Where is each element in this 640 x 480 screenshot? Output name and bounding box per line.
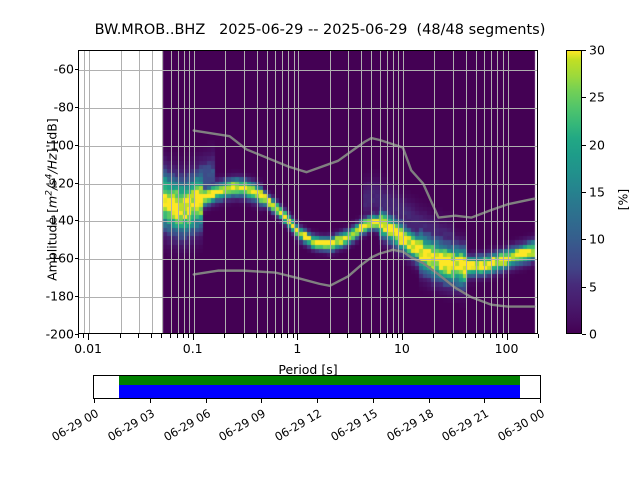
timeline-tick-label: 06-29 09	[213, 406, 268, 446]
timeline-tick	[429, 399, 430, 403]
x-axis-tick	[177, 334, 178, 338]
grid-line-horizontal	[79, 146, 538, 147]
x-axis-tick	[329, 334, 330, 338]
grid-line-vertical	[152, 51, 153, 334]
x-axis-tick	[287, 334, 288, 338]
timeline-tick	[150, 399, 151, 403]
x-axis-tick	[360, 334, 361, 338]
x-axis-tick	[538, 334, 539, 338]
timeline-tick-label: 06-29 06	[157, 406, 212, 446]
colorbar-tick-label: 5	[589, 279, 597, 294]
x-axis-tick-label: 0.1	[183, 341, 203, 356]
timeline-tick-label: 06-29 15	[324, 406, 379, 446]
x-axis-tick	[256, 334, 257, 338]
grid-line-vertical	[121, 51, 122, 334]
y-axis-tick	[75, 107, 79, 108]
x-axis-tick	[347, 334, 348, 338]
grid-line-vertical	[398, 51, 399, 334]
grid-line-vertical	[508, 51, 509, 334]
x-axis-tick	[151, 334, 152, 338]
x-axis-tick	[402, 334, 403, 340]
x-axis-tick	[293, 334, 294, 338]
colorbar-tick	[582, 97, 586, 98]
colorbar-tick	[582, 239, 586, 240]
ppsd-figure: BW.MROB..BHZ 2025-06-29 -- 2025-06-29 (4…	[0, 0, 640, 480]
y-axis-title-math: m2/s4/Hz	[45, 153, 60, 208]
timeline-tick	[373, 399, 374, 403]
x-axis-tick	[397, 334, 398, 338]
x-axis-tick	[475, 334, 476, 338]
grid-line-horizontal	[79, 184, 538, 185]
y-axis-tick	[75, 334, 79, 335]
grid-line-vertical	[403, 51, 404, 334]
grid-line-vertical	[387, 51, 388, 334]
x-axis-tick	[281, 334, 282, 338]
timeline-tick-label: 06-29 18	[380, 406, 435, 446]
x-axis-tick	[193, 334, 194, 340]
ppsd-plot-area	[78, 50, 538, 334]
y-axis-title-prefix: Amplitude [	[45, 208, 60, 281]
timeline-tick-label: 06-29 00	[46, 406, 101, 446]
grid-line-vertical	[348, 51, 349, 334]
x-axis-tick	[297, 334, 298, 340]
grid-line-vertical	[189, 51, 190, 334]
x-axis-tick-label: 100	[495, 341, 519, 356]
colorbar-tick-label: 20	[589, 137, 605, 152]
page-title: BW.MROB..BHZ 2025-06-29 -- 2025-06-29 (4…	[0, 22, 640, 38]
data-coverage-timeline	[93, 375, 541, 399]
grid-line-horizontal	[79, 297, 538, 298]
y-axis-title: Amplitude [m2/s4/Hz] [dB]	[44, 58, 59, 342]
x-axis-tick	[188, 334, 189, 338]
x-axis-tick	[274, 334, 275, 338]
colorbar-tick-label: 0	[589, 327, 597, 342]
x-axis-tick	[161, 334, 162, 338]
x-axis-tick	[138, 334, 139, 338]
grid-line-vertical	[171, 51, 172, 334]
grid-line-vertical	[194, 51, 195, 334]
colorbar-tick	[582, 287, 586, 288]
x-axis-tick	[170, 334, 171, 338]
grid-line-vertical	[393, 51, 394, 334]
colorbar-tick	[582, 334, 586, 335]
x-axis-tick	[183, 334, 184, 338]
grid-line-vertical	[162, 51, 163, 334]
x-axis-tick	[502, 334, 503, 338]
x-axis-tick	[379, 334, 380, 338]
nhnm-noise-model-line	[194, 131, 534, 218]
x-axis-tick-label: 0.01	[74, 341, 102, 356]
grid-line-vertical	[453, 51, 454, 334]
grid-line-vertical	[484, 51, 485, 334]
grid-line-vertical	[361, 51, 362, 334]
grid-line-vertical	[298, 51, 299, 334]
grid-line-vertical	[434, 51, 435, 334]
x-axis-tick	[370, 334, 371, 338]
timeline-tick	[317, 399, 318, 403]
x-axis-tick	[88, 334, 89, 340]
timeline-tick	[540, 399, 541, 403]
x-axis-tick	[392, 334, 393, 338]
colorbar-tick	[582, 192, 586, 193]
x-axis-tick	[266, 334, 267, 338]
grid-line-vertical	[371, 51, 372, 334]
grid-line-vertical	[330, 51, 331, 334]
timeline-tick-label: 06-29 03	[101, 406, 156, 446]
timeline-tick-label: 06-29 21	[436, 406, 491, 446]
grid-line-vertical	[282, 51, 283, 334]
grid-line-vertical	[178, 51, 179, 334]
grid-line-vertical	[267, 51, 268, 334]
timeline-tick	[206, 399, 207, 403]
y-axis-tick	[75, 296, 79, 297]
grid-line-vertical	[257, 51, 258, 334]
x-axis-tick	[78, 334, 79, 338]
data-coverage-blue	[119, 385, 520, 398]
y-axis-tick	[75, 69, 79, 70]
x-axis-tick	[120, 334, 121, 338]
timeline-tick-label: 06-29 12	[269, 406, 324, 446]
x-axis-tick	[483, 334, 484, 338]
grid-line-vertical	[89, 51, 90, 334]
data-coverage-green	[119, 376, 520, 385]
x-axis-tick	[386, 334, 387, 338]
grid-line-vertical	[497, 51, 498, 334]
colorbar-tick-label: 25	[589, 90, 605, 105]
grid-line-vertical	[288, 51, 289, 334]
y-axis-title-suffix: ] [dB]	[45, 118, 60, 153]
colorbar-tick	[582, 50, 586, 51]
grid-line-vertical	[184, 51, 185, 334]
grid-line-horizontal	[79, 70, 538, 71]
y-axis-tick	[75, 183, 79, 184]
colorbar	[566, 50, 582, 334]
timeline-tick	[484, 399, 485, 403]
x-axis-tick	[83, 334, 84, 338]
y-axis-tick	[75, 220, 79, 221]
x-axis-tick	[465, 334, 466, 338]
y-axis-tick	[75, 145, 79, 146]
timeline-tick	[94, 399, 95, 403]
grid-line-vertical	[503, 51, 504, 334]
x-axis-tick	[243, 334, 244, 338]
x-axis-tick	[224, 334, 225, 338]
grid-line-vertical	[466, 51, 467, 334]
timeline-tick	[261, 399, 262, 403]
grid-line-vertical	[225, 51, 226, 334]
grid-line-vertical	[294, 51, 295, 334]
grid-line-vertical	[380, 51, 381, 334]
grid-line-vertical	[476, 51, 477, 334]
grid-line-horizontal	[79, 259, 538, 260]
noise-model-overlay	[79, 51, 538, 334]
grid-line-vertical	[244, 51, 245, 334]
grid-line-vertical	[84, 51, 85, 334]
x-axis-tick	[452, 334, 453, 338]
grid-line-vertical	[139, 51, 140, 334]
colorbar-title: [%]	[615, 189, 630, 211]
y-axis-tick	[75, 258, 79, 259]
x-axis-tick-label: 1	[293, 341, 301, 356]
x-axis-tick	[507, 334, 508, 340]
colorbar-tick-label: 30	[589, 43, 605, 58]
x-axis-tick-label: 10	[394, 341, 410, 356]
grid-line-vertical	[275, 51, 276, 334]
grid-line-horizontal	[79, 108, 538, 109]
colorbar-tick	[582, 145, 586, 146]
grid-line-vertical	[491, 51, 492, 334]
x-axis-tick	[490, 334, 491, 338]
colorbar-tick-label: 10	[589, 232, 605, 247]
colorbar-tick-label: 15	[589, 185, 605, 200]
timeline-tick-label: 06-30 00	[492, 406, 547, 446]
grid-line-horizontal	[79, 221, 538, 222]
x-axis-tick	[433, 334, 434, 338]
x-axis-tick	[496, 334, 497, 338]
